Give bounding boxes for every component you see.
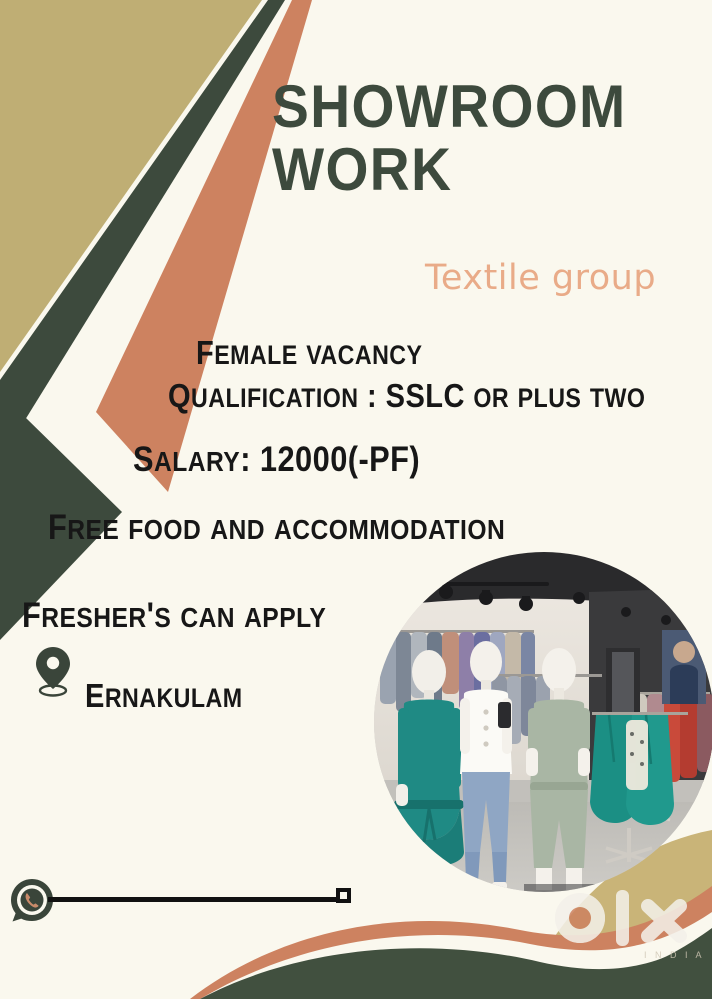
contact-connector-line (48, 897, 345, 902)
detail-salary: SALARY: 12000(-PF) (133, 440, 420, 480)
location-city-label: ERNAKULAM (85, 677, 243, 715)
showroom-photo-illustration (374, 552, 712, 892)
headline-line-2: WORK (272, 141, 658, 198)
headline-line-1: SHOWROOM (272, 78, 658, 135)
detail-food-accommodation: FREE FOOD AND ACCOMMODATION (48, 508, 505, 548)
job-advertisement-poster: SHOWROOM WORK Textile group FEMALE VACAN… (0, 0, 712, 999)
map-pin-icon (32, 645, 74, 697)
detail-female-vacancy: FEMALE VACANCY (196, 334, 422, 372)
olx-region-label: I N D I A (644, 950, 705, 960)
poster-subtitle: Textile group (425, 258, 656, 298)
detail-freshers-can-apply: FRESHER'S CAN APPLY (22, 596, 326, 636)
showroom-photo (374, 552, 712, 892)
contact-number-box[interactable] (336, 888, 351, 903)
olx-watermark: I N D I A (548, 880, 708, 970)
poster-headline: SHOWROOM WORK (272, 78, 692, 198)
detail-qualification: QUALIFICATION : SSLC OR PLUS TWO (168, 377, 645, 415)
